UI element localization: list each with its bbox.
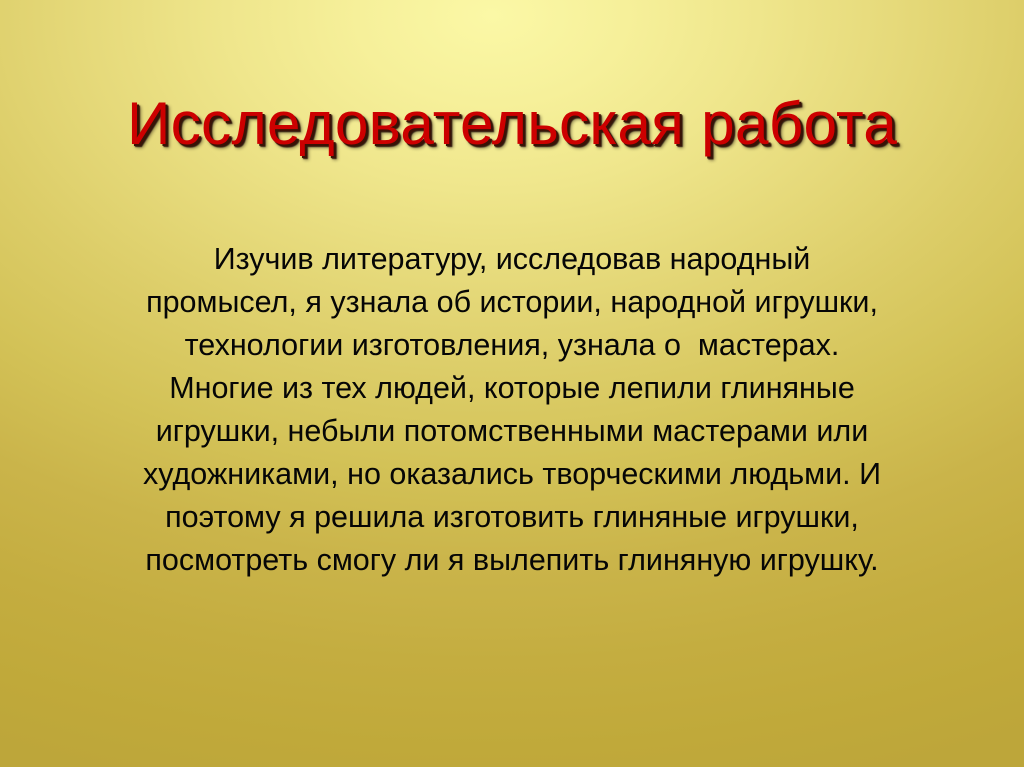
presentation-slide: Исследовательская работа Изучив литерату… (0, 0, 1024, 767)
body-text-line: художниками, но оказались творческими лю… (62, 453, 962, 496)
body-text-line: промысел, я узнала об истории, народной … (62, 281, 962, 324)
body-text-line: технологии изготовления, узнала о мастер… (62, 324, 962, 367)
body-text-line: поэтому я решила изготовить глиняные игр… (62, 496, 962, 539)
slide-title-block: Исследовательская работа (0, 92, 1024, 155)
body-text-line: посмотреть смогу ли я вылепить глиняную … (62, 539, 962, 582)
body-text-line: Многие из тех людей, которые лепили глин… (62, 367, 962, 410)
slide-body-text-block: Изучив литературу, исследовав народный п… (62, 238, 962, 582)
slide-title: Исследовательская работа (127, 92, 897, 155)
body-text-line: Изучив литературу, исследовав народный (62, 238, 962, 281)
body-text-line: игрушки, небыли потомственными мастерами… (62, 410, 962, 453)
